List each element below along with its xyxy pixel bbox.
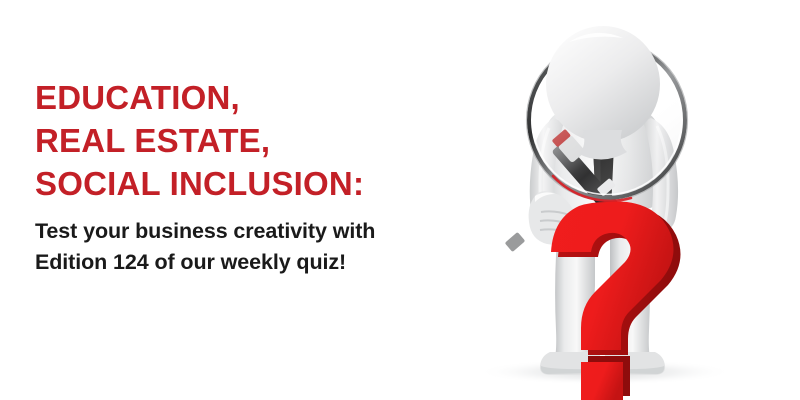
text-block: EDUCATION, REAL ESTATE, SOCIAL INCLUSION… (35, 76, 455, 278)
subtitle: Test your business creativity with Editi… (35, 216, 455, 278)
headline-line-2: REAL ESTATE, (35, 119, 455, 162)
illustration (455, 0, 800, 400)
headline-line-1: EDUCATION, (35, 76, 455, 119)
subtitle-line-1: Test your business creativity with (35, 216, 455, 247)
promo-banner: EDUCATION, REAL ESTATE, SOCIAL INCLUSION… (0, 0, 800, 400)
headline: EDUCATION, REAL ESTATE, SOCIAL INCLUSION… (35, 76, 455, 205)
subtitle-line-2: Edition 124 of our weekly quiz! (35, 247, 455, 278)
headline-line-3: SOCIAL INCLUSION: (35, 162, 455, 205)
figure-svg (455, 0, 800, 400)
